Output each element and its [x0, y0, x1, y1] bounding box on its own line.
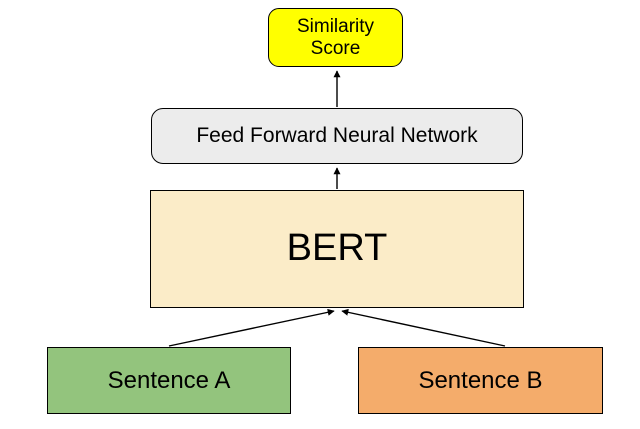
edge-sentence-b-to-bert: [342, 311, 505, 346]
node-bert[interactable]: BERT: [150, 190, 524, 308]
node-sentence-a[interactable]: Sentence A: [47, 347, 291, 414]
edge-sentence-a-to-bert: [169, 311, 334, 346]
similarity-score-label-line-1: Similarity: [297, 16, 374, 38]
diagram-canvas: Similarity Score Feed Forward Neural Net…: [0, 0, 640, 429]
feed-forward-label: Feed Forward Neural Network: [196, 124, 477, 148]
node-feed-forward-neural-network[interactable]: Feed Forward Neural Network: [151, 108, 523, 164]
bert-label: BERT: [287, 227, 388, 271]
sentence-b-label: Sentence B: [418, 367, 542, 395]
node-sentence-b[interactable]: Sentence B: [358, 347, 603, 414]
node-similarity-score[interactable]: Similarity Score: [268, 8, 403, 67]
similarity-score-label: Similarity Score: [297, 16, 374, 60]
sentence-a-label: Sentence A: [108, 367, 231, 395]
similarity-score-label-line-2: Score: [297, 38, 374, 60]
